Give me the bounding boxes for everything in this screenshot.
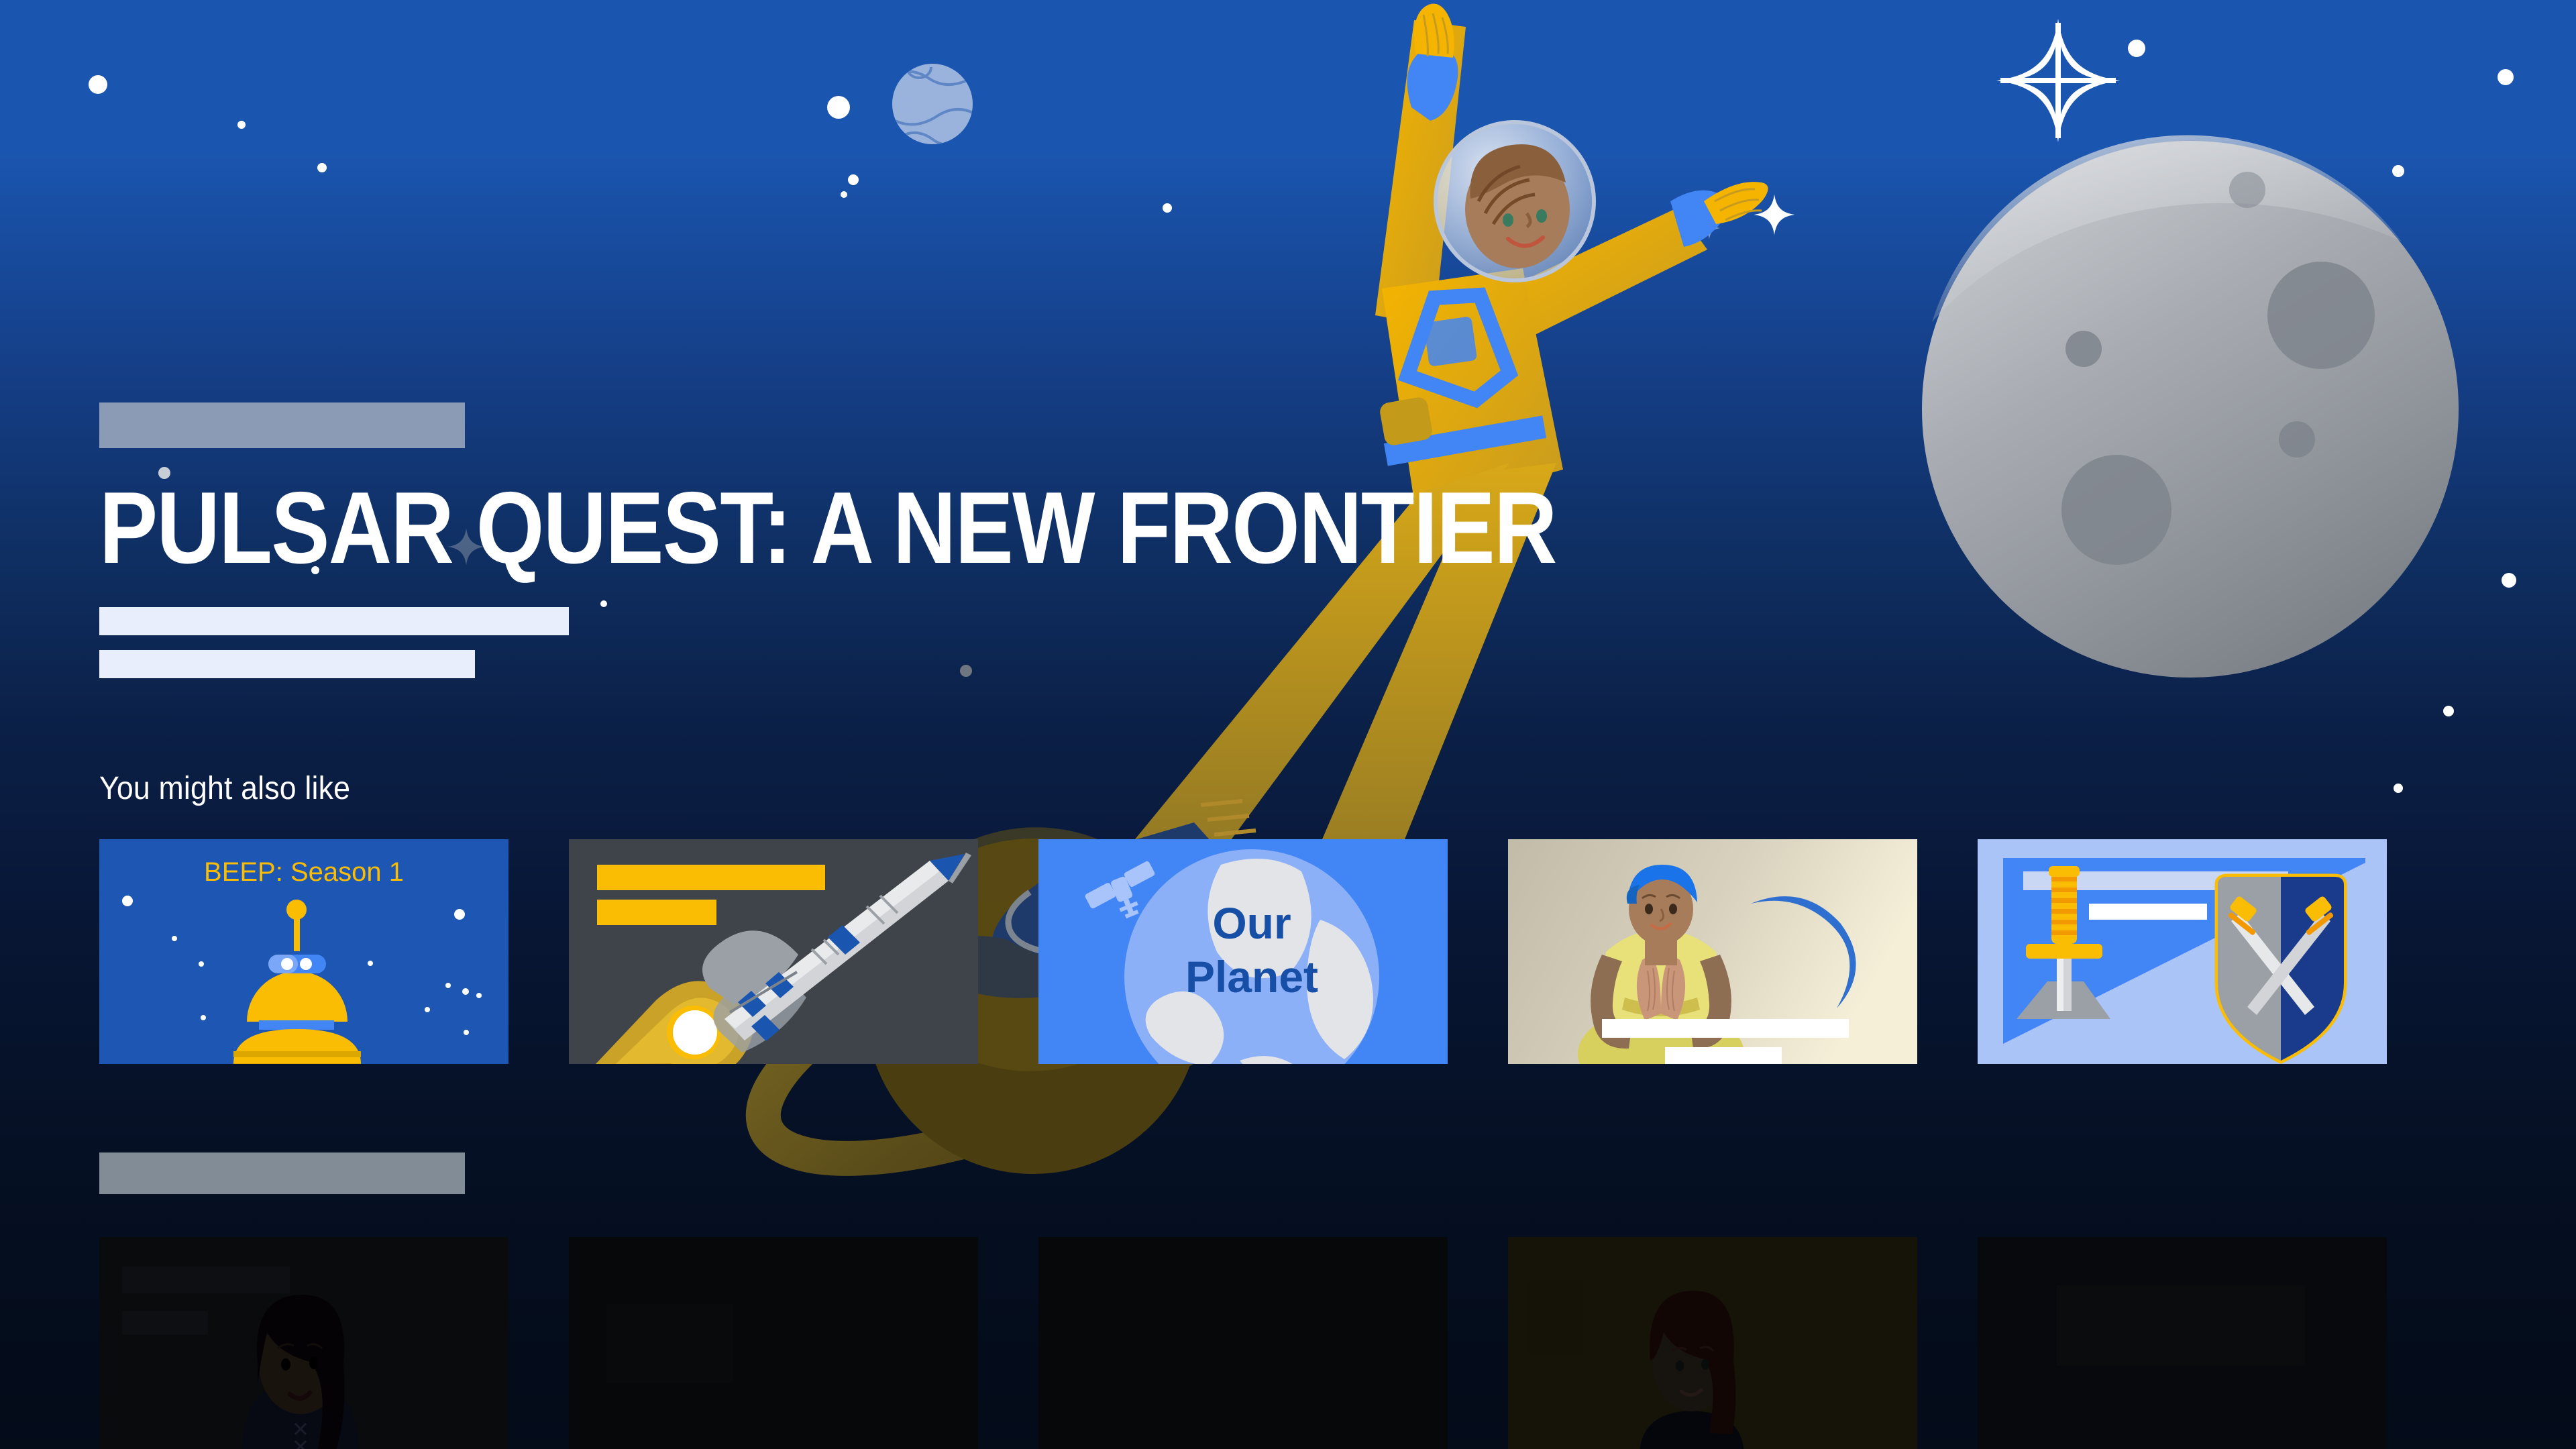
hero-skeleton-bar-top	[99, 402, 465, 448]
card-label-text: Our	[1212, 898, 1291, 948]
recommendation-row: You might also like	[99, 770, 2387, 1064]
card-label-text: Planet	[1185, 952, 1318, 1002]
placeholder-bar	[122, 1311, 208, 1335]
card-beep-season-1[interactable]: BEEP: Season 1	[99, 839, 508, 1064]
placeholder-bar	[1665, 1047, 1782, 1064]
card-placeholder-2[interactable]	[1038, 1237, 1448, 1449]
card-portrait-dark-2[interactable]	[1508, 1237, 1917, 1449]
placeholder-bar	[597, 900, 716, 925]
placeholder-bar	[122, 1267, 290, 1293]
card-rocket-launch[interactable]	[569, 839, 978, 1064]
row-title: You might also like	[99, 770, 2226, 807]
placeholder-bar	[1528, 1280, 1583, 1354]
placeholder-bar	[2057, 1285, 2305, 1366]
moon-illustration	[1922, 135, 2459, 678]
placeholder-bar	[597, 865, 825, 890]
card-placeholder-3[interactable]	[1978, 1237, 2387, 1449]
page-title: PULSAR QUEST: A NEW FRONTIER	[99, 477, 1556, 579]
hero-skeleton-line-1	[99, 607, 569, 635]
shield-icon	[2218, 877, 2344, 1061]
card-list	[99, 1237, 2387, 1449]
hero-skeleton-line-2	[99, 650, 475, 678]
four-point-star-icon	[1754, 195, 1795, 235]
card-label-text: BEEP: Season 1	[204, 857, 404, 887]
second-row	[99, 1152, 2387, 1449]
app-stage: PULSAR QUEST: A NEW FRONTIER You might a…	[0, 0, 2576, 1449]
placeholder-bar	[2089, 904, 2207, 920]
four-point-star-icon	[1698, 217, 1720, 239]
card-meditation[interactable]	[1508, 839, 1917, 1064]
card-our-planet[interactable]: Our Planet	[1038, 839, 1448, 1064]
hero-block: PULSAR QUEST: A NEW FRONTIER	[99, 402, 1793, 678]
placeholder-bar	[1602, 1019, 1849, 1038]
card-sword-and-shield[interactable]	[1978, 839, 2387, 1064]
blue-planet-illustration	[889, 64, 983, 146]
card-placeholder-1[interactable]	[569, 1237, 978, 1449]
card-portrait-dark-1[interactable]	[99, 1237, 508, 1449]
placeholder-bar	[606, 1304, 733, 1383]
row-title-skeleton	[99, 1152, 465, 1194]
card-list: BEEP: Season 1	[99, 839, 2387, 1064]
four-point-star-icon	[1996, 19, 2120, 142]
